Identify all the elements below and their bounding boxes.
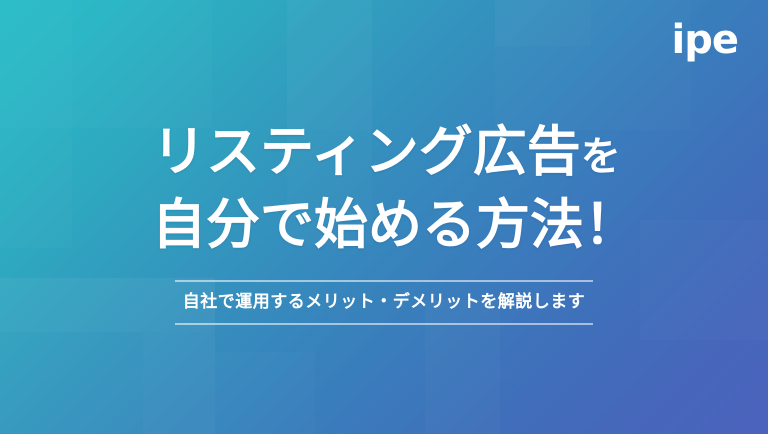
texture-block [0,0,72,128]
headline-line-1-main: リスティング広告 [152,120,581,183]
texture-block [495,0,591,46]
texture-block [215,352,315,434]
promotional-banner: ipe リスティング広告を 自分で始める方法！ 自社で運用するメリット・デメリッ… [0,0,768,434]
headline-line-1-particle: を [581,134,621,180]
headline-line-2: 自分で始める方法！ [152,191,622,259]
headline: リスティング広告を 自分で始める方法！ [152,118,622,259]
ipe-logo[interactable]: ipe [672,20,738,60]
subtitle-text: 自社で運用するメリット・デメリットを解説します [175,282,593,323]
texture-block [640,220,768,340]
texture-block [0,128,72,248]
texture-block [0,332,143,434]
texture-block [72,0,212,128]
headline-line-2-main: 自分で始める方法！ [152,193,638,256]
texture-block [143,332,215,434]
divider-bottom [175,323,593,325]
headline-line-1: リスティング広告を [152,118,622,191]
subtitle-block: 自社で運用するメリット・デメリットを解説します [175,280,593,325]
texture-block [287,0,372,130]
